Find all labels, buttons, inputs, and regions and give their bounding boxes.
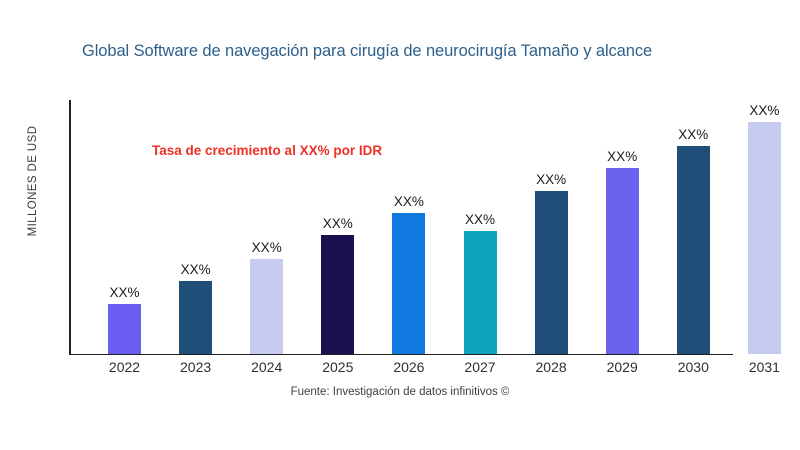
- x-axis-tick-2024: 2024: [238, 359, 295, 375]
- x-axis-tick-2031: 2031: [736, 359, 793, 375]
- bar-group: XX%: [748, 96, 781, 354]
- bar-value-label: XX%: [607, 149, 637, 164]
- bar-group: XX%: [108, 278, 141, 354]
- bar[interactable]: [748, 122, 781, 354]
- x-axis-tick-2027: 2027: [452, 359, 509, 375]
- bar[interactable]: [606, 168, 639, 354]
- bar[interactable]: [392, 213, 425, 354]
- x-axis-tick-2028: 2028: [523, 359, 580, 375]
- bar-group: XX%: [250, 233, 283, 354]
- bar[interactable]: [250, 259, 283, 354]
- bar-value-label: XX%: [394, 194, 424, 209]
- bar-value-label: XX%: [678, 127, 708, 142]
- bar-value-label: XX%: [323, 216, 353, 231]
- plot-area: XX%2022XX%2023XX%2024XX%2025XX%2026XX%20…: [0, 0, 800, 450]
- bar-group: XX%: [392, 187, 425, 354]
- x-axis-tick-2030: 2030: [665, 359, 722, 375]
- bar-value-label: XX%: [252, 240, 282, 255]
- bar-group: XX%: [535, 165, 568, 354]
- x-axis-tick-2022: 2022: [96, 359, 153, 375]
- bar[interactable]: [179, 281, 212, 354]
- growth-rate-annotation: Tasa de crecimiento al XX% por IDR: [152, 143, 382, 158]
- x-axis-tick-2025: 2025: [309, 359, 366, 375]
- x-axis-tick-2023: 2023: [167, 359, 224, 375]
- bar-group: XX%: [464, 205, 497, 354]
- bar-chart: Global Software de navegación para cirug…: [0, 0, 800, 450]
- bar-value-label: XX%: [465, 212, 495, 227]
- x-axis-tick-2029: 2029: [594, 359, 651, 375]
- bar-group: XX%: [179, 255, 212, 354]
- bar[interactable]: [677, 146, 710, 354]
- bar-value-label: XX%: [749, 103, 779, 118]
- bar-value-label: XX%: [181, 262, 211, 277]
- bar-value-label: XX%: [109, 285, 139, 300]
- bar-group: XX%: [606, 142, 639, 354]
- bar-group: XX%: [321, 209, 354, 354]
- source-note: Fuente: Investigación de datos infinitiv…: [0, 386, 800, 398]
- bar[interactable]: [464, 231, 497, 354]
- bar[interactable]: [321, 235, 354, 354]
- x-axis-tick-2026: 2026: [380, 359, 437, 375]
- bar[interactable]: [535, 191, 568, 354]
- bar-group: XX%: [677, 120, 710, 354]
- bar-value-label: XX%: [536, 172, 566, 187]
- bar[interactable]: [108, 304, 141, 354]
